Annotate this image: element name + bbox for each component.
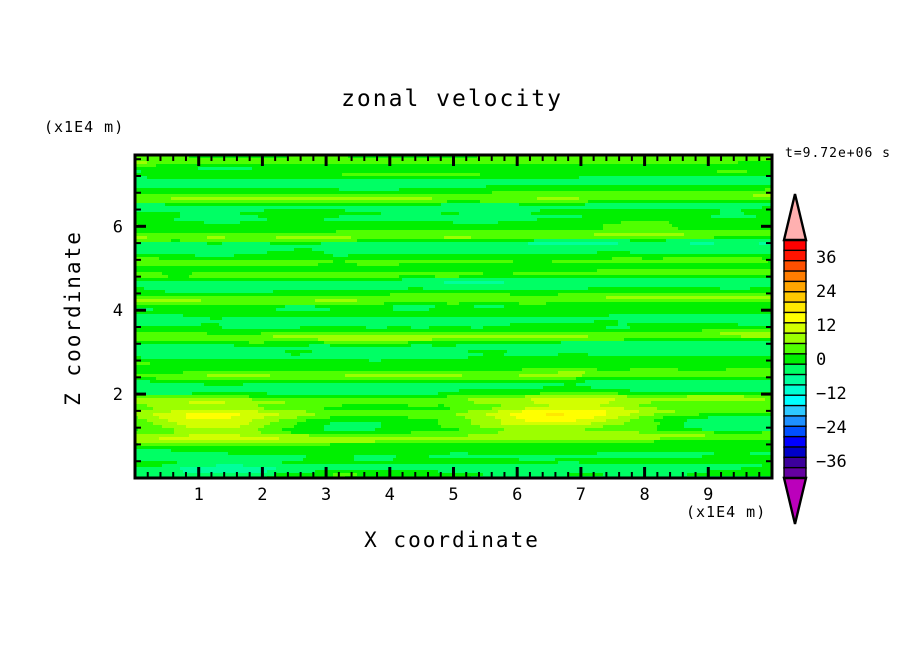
colorbar-band: [784, 375, 806, 386]
colorbar-band: [784, 240, 806, 251]
colorbar-band: [784, 333, 806, 344]
contour-field: [135, 155, 774, 479]
x-tick-label: 8: [639, 485, 649, 505]
colorbar-tick-label: −24: [816, 418, 847, 438]
y-tick-label: 2: [113, 385, 123, 405]
x-tick-label: 6: [512, 485, 522, 505]
colorbar-band: [784, 343, 806, 354]
colorbar-over-arrow: [784, 194, 806, 240]
colorbar-band: [784, 426, 806, 437]
colorbar-band: [784, 364, 806, 375]
y-tick-label: 4: [113, 301, 123, 321]
colorbar-band: [784, 292, 806, 303]
colorbar-band: [784, 437, 806, 448]
colorbar-band: [784, 395, 806, 406]
colorbar-tick-label: −12: [816, 384, 847, 404]
x-tick-label: 3: [321, 485, 331, 505]
colorbar-band: [784, 447, 806, 458]
colorbar-tick-label: 12: [816, 316, 836, 336]
contour-plot-figure: zonal velocity (x1E4 m) (x1E4 m) t=9.72e…: [0, 0, 904, 654]
plot-canvas: 123456789 246 3624120−12−24−36: [0, 0, 904, 654]
x-tick-label: 1: [194, 485, 204, 505]
colorbar-band: [784, 354, 806, 365]
x-tick-label: 9: [703, 485, 713, 505]
colorbar-band: [784, 457, 806, 468]
colorbar-band: [784, 271, 806, 282]
colorbar-band: [784, 385, 806, 396]
colorbar-band: [784, 406, 806, 417]
colorbar: 3624120−12−24−36: [784, 194, 847, 524]
colorbar-band: [784, 312, 806, 323]
colorbar-under-arrow: [784, 478, 806, 524]
x-tick-label: 5: [448, 485, 458, 505]
colorbar-tick-label: −36: [816, 452, 847, 472]
colorbar-tick-label: 36: [816, 248, 836, 268]
colorbar-band: [784, 468, 806, 479]
colorbar-band: [784, 416, 806, 427]
x-tick-label: 2: [257, 485, 267, 505]
colorbar-band: [784, 250, 806, 261]
x-tick-label: 7: [576, 485, 586, 505]
colorbar-band: [784, 323, 806, 334]
colorbar-tick-label: 0: [816, 350, 826, 370]
colorbar-band: [784, 281, 806, 292]
colorbar-band: [784, 261, 806, 272]
y-tick-label: 6: [113, 217, 123, 237]
colorbar-tick-label: 24: [816, 282, 836, 302]
colorbar-band: [784, 302, 806, 313]
x-tick-label: 4: [385, 485, 395, 505]
